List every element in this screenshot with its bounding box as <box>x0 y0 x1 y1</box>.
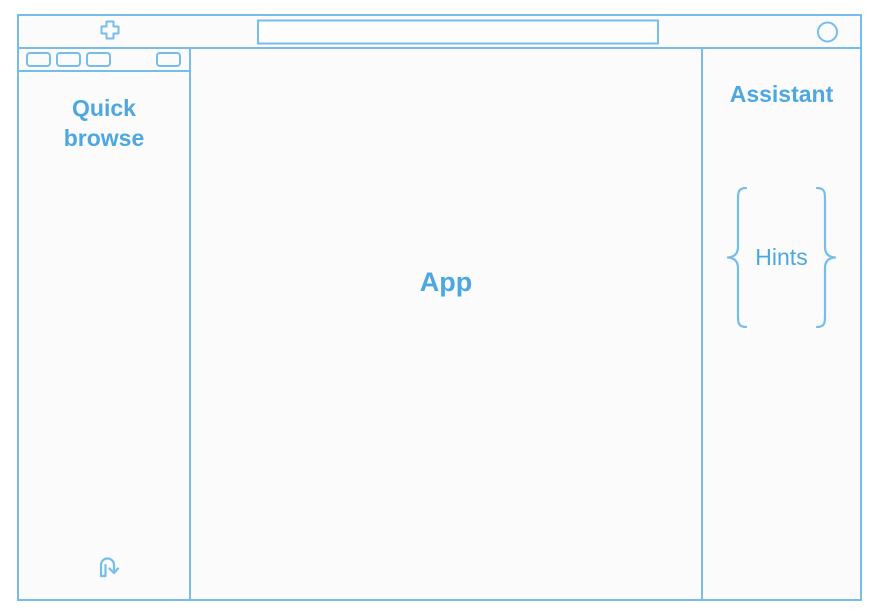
address-bar-input[interactable] <box>259 21 657 42</box>
sidebar-toolbar-button-3[interactable] <box>86 52 111 67</box>
u-turn-arrow-icon[interactable] <box>93 553 123 583</box>
sidebar-footer <box>19 553 189 599</box>
window-body: Quick browse App Assistant <box>17 49 862 601</box>
quick-browse-sidebar: Quick browse <box>17 49 191 601</box>
profile-circle-icon[interactable] <box>817 21 838 42</box>
hints-label: Hints <box>751 244 811 271</box>
address-bar[interactable] <box>257 19 659 44</box>
plus-icon <box>97 19 123 45</box>
sidebar-toolbar-button-1[interactable] <box>26 52 51 67</box>
curly-brace-right-icon <box>812 185 838 330</box>
add-tab-button[interactable] <box>97 19 123 45</box>
sidebar-toolbar-button-2[interactable] <box>56 52 81 67</box>
hints-block: Hints <box>703 185 860 330</box>
sidebar-toolbar-button-4[interactable] <box>156 52 181 67</box>
app-label: App <box>420 267 472 298</box>
quick-browse-title: Quick browse <box>19 94 189 154</box>
top-bar <box>17 14 862 49</box>
app-content-pane[interactable]: App <box>191 49 703 601</box>
assistant-title: Assistant <box>730 81 834 108</box>
curly-brace-left-icon <box>725 185 751 330</box>
assistant-pane: Assistant Hints <box>703 49 862 601</box>
browser-wireframe: Quick browse App Assistant <box>17 14 862 601</box>
sidebar-toolbar <box>19 49 189 72</box>
